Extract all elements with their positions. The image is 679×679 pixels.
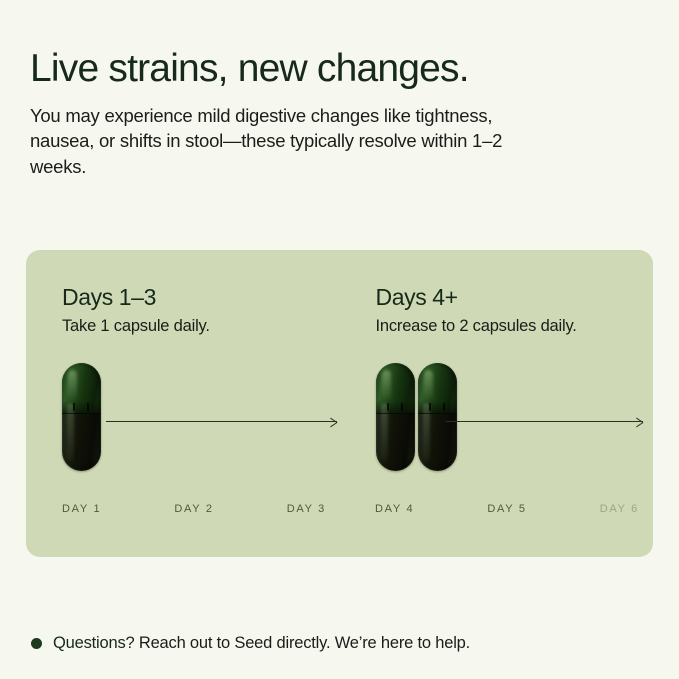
capsule-icon bbox=[62, 363, 101, 471]
capsule-icon bbox=[376, 363, 415, 471]
column-subtitle: Increase to 2 capsules daily. bbox=[376, 315, 577, 337]
column-title: Days 4+ bbox=[376, 283, 458, 311]
capsule-seam bbox=[376, 413, 415, 414]
column-title: Days 1–3 bbox=[62, 283, 156, 311]
capsule-notch bbox=[387, 403, 389, 411]
footer-help-note: Questions? Reach out to Seed directly. W… bbox=[31, 632, 470, 654]
page-title: Live strains, new changes. bbox=[30, 46, 650, 92]
day-label-row-left: DAY 1 DAY 2 DAY 3 bbox=[62, 501, 326, 517]
timeline-arrow-left bbox=[106, 416, 337, 428]
capsule-body-highlight bbox=[67, 403, 74, 461]
capsule-seam bbox=[418, 413, 457, 414]
filled-circle-icon bbox=[31, 638, 42, 649]
arrow-line bbox=[446, 421, 643, 422]
column-subtitle: Take 1 capsule daily. bbox=[62, 315, 210, 337]
capsule-notch bbox=[429, 403, 431, 411]
day-label-6: DAY 6 bbox=[551, 501, 639, 517]
timeline-arrow-right bbox=[446, 416, 643, 428]
dosage-schedule-card: Days 1–3 Take 1 capsule daily. Day bbox=[26, 250, 653, 557]
arrow-line bbox=[106, 421, 337, 422]
day-label-1: DAY 1 bbox=[62, 501, 150, 517]
day-label-3: DAY 3 bbox=[238, 501, 326, 517]
day-label-5: DAY 5 bbox=[463, 501, 551, 517]
arrow-head-icon bbox=[330, 417, 337, 426]
capsule-cap-highlight bbox=[424, 370, 433, 400]
capsule-group-single bbox=[62, 363, 101, 471]
footer-lead: Questions? bbox=[53, 634, 134, 652]
footer-text: Questions? Reach out to Seed directly. W… bbox=[53, 632, 470, 654]
capsule-group-double bbox=[376, 363, 457, 471]
capsule-cap-highlight bbox=[382, 370, 391, 400]
day-label-row-right: DAY 4 DAY 5 DAY 6 bbox=[375, 501, 639, 517]
day-label-4: DAY 4 bbox=[375, 501, 463, 517]
capsule-notch bbox=[401, 403, 403, 411]
capsule-body-highlight bbox=[381, 403, 388, 461]
capsule-notch bbox=[87, 403, 89, 411]
capsule-notch bbox=[443, 403, 445, 411]
capsule-notch bbox=[73, 403, 75, 411]
arrow-head-icon bbox=[636, 417, 643, 426]
day-label-2: DAY 2 bbox=[150, 501, 238, 517]
capsule-seam bbox=[62, 413, 101, 414]
capsule-body-highlight bbox=[423, 403, 430, 461]
footer-rest: Reach out to Seed directly. We’re here t… bbox=[134, 634, 470, 652]
page-subcopy: You may experience mild digestive change… bbox=[30, 103, 550, 180]
capsule-cap-highlight bbox=[68, 370, 77, 400]
page-root: Live strains, new changes. You may exper… bbox=[0, 0, 679, 679]
